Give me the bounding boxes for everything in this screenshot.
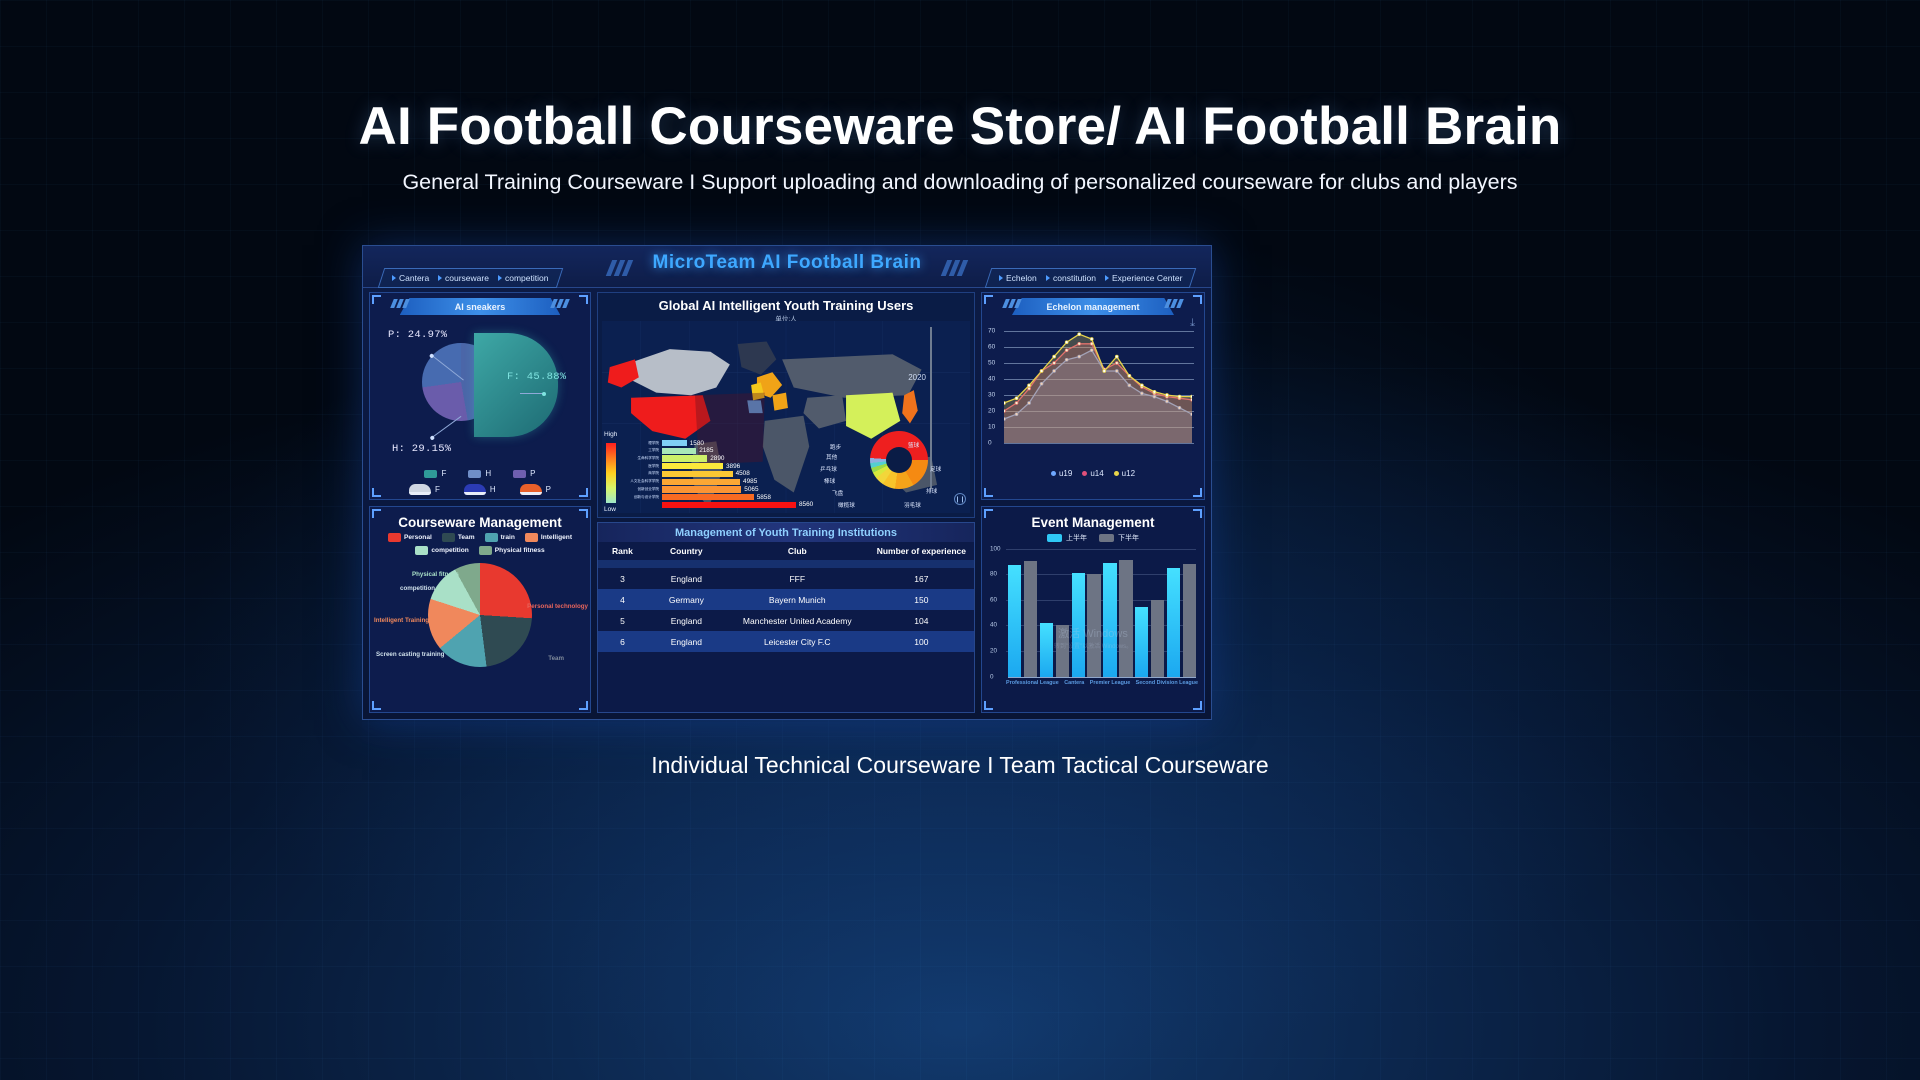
- table-row[interactable]: 3EnglandFFF167: [598, 568, 974, 589]
- cell-rank: 3: [598, 568, 647, 589]
- map-bar-value: 1580: [690, 440, 704, 447]
- callout-screen-casting: Screen casting training: [376, 651, 444, 658]
- map-bar-label: 工学院: [648, 448, 659, 453]
- cell-rank: 6: [598, 631, 647, 652]
- echelon-line-chart: 706050403020100: [988, 325, 1198, 465]
- map-bar-value: 2890: [710, 455, 724, 462]
- legend-item[interactable]: F: [424, 469, 446, 478]
- map-bar-value: 3896: [726, 463, 740, 470]
- event-bar[interactable]: [1103, 563, 1116, 677]
- pie-label-p: P: 24.97%: [388, 329, 447, 341]
- map-donut-chart: 跑步 篮球 足球 排球 羽毛球 橄榄球 飞盘 棒球 乒乓球 其他 ❙❙: [818, 425, 968, 511]
- map-bar-row: 人文社会科学学院4985: [662, 479, 740, 485]
- col-experience: Number of experience: [869, 542, 974, 560]
- map-bar-row: 工学院2185: [662, 448, 696, 454]
- cell-club: Leicester City F.C: [726, 631, 869, 652]
- scale-low-label: Low: [604, 506, 616, 513]
- x-axis-label: Professional League: [1006, 680, 1059, 686]
- pie-label-h: H: 29.15%: [392, 443, 451, 455]
- donut-label-badminton: 羽毛球: [904, 501, 921, 509]
- page-footer-text: Individual Technical Courseware I Team T…: [0, 752, 1920, 779]
- triangle-icon: [1105, 275, 1109, 281]
- left-column: AI sneakers P: 24.97%: [369, 292, 591, 713]
- event-bar[interactable]: [1167, 568, 1180, 677]
- event-bar[interactable]: [1040, 623, 1053, 677]
- legend-item-u19[interactable]: u19: [1051, 469, 1072, 478]
- event-bar[interactable]: [1024, 561, 1037, 676]
- event-legend: 上半年 下半年: [982, 533, 1204, 543]
- page-title: AI Football Courseware Store/ AI Footbal…: [0, 96, 1920, 157]
- nav-item-cantera[interactable]: Cantera: [392, 273, 429, 283]
- map-bar-row: 创新创业学院5065: [662, 486, 741, 492]
- y-tick: 100: [990, 545, 1001, 552]
- cell-country: England: [647, 568, 726, 589]
- callout-competition: competition: [400, 585, 435, 592]
- legend-item[interactable]: Physical fitness: [479, 546, 545, 555]
- event-bar-chart: 020406080100 激活 Windows 转到"设置"以激活 Window…: [990, 549, 1196, 677]
- y-tick: 70: [988, 328, 995, 335]
- map-bar-value: 2185: [699, 447, 713, 454]
- cell-country: England: [647, 610, 726, 631]
- map-bar-row: 创新与设计学院5858: [662, 494, 754, 500]
- map-bar-value: 5065: [744, 486, 758, 493]
- map-bar-label: 生命科学学院: [637, 456, 659, 461]
- courseware-management-title: Courseware Management: [370, 507, 590, 530]
- col-rank: Rank: [598, 542, 647, 560]
- legend-item-u14[interactable]: u14: [1082, 469, 1103, 478]
- dashboard-window: MicroTeam AI Football Brain Cantera cour…: [362, 245, 1212, 720]
- y-tick: 10: [988, 424, 995, 431]
- map-bar-row: 理学院1580: [662, 440, 687, 446]
- event-management-title: Event Management: [982, 507, 1204, 530]
- legend-item[interactable]: Team: [442, 533, 475, 542]
- triangle-icon: [498, 275, 502, 281]
- event-bar[interactable]: [1135, 607, 1148, 676]
- map-title: Global AI Intelligent Youth Training Use…: [598, 293, 974, 313]
- sneaker-icon: [464, 484, 486, 495]
- cell-experience: 167: [869, 568, 974, 589]
- event-bar[interactable]: [1008, 565, 1021, 676]
- header-slash-right: [944, 260, 965, 276]
- y-tick: 40: [988, 376, 995, 383]
- nav-item-courseware[interactable]: courseware: [438, 273, 489, 283]
- scale-high-label: High: [604, 431, 617, 438]
- donut-label-football: 足球: [930, 465, 941, 473]
- y-tick: 50: [988, 360, 995, 367]
- col-club: Club: [726, 542, 869, 560]
- gradient-scale: [606, 443, 616, 503]
- legend-item[interactable]: Intelligent: [525, 533, 572, 542]
- ai-sneakers-title-ribbon: AI sneakers: [400, 298, 561, 315]
- event-bar[interactable]: [1151, 600, 1164, 677]
- triangle-icon: [392, 275, 396, 281]
- donut-label-running: 跑步: [830, 443, 841, 451]
- cell-club: FFF: [726, 568, 869, 589]
- nav-left: Cantera courseware competition: [378, 268, 563, 288]
- table-header-row: Rank Country Club Number of experience: [598, 542, 974, 560]
- legend-item-second-half[interactable]: 下半年: [1099, 533, 1139, 543]
- donut-label-frisbee: 飞盘: [832, 489, 843, 497]
- triangle-icon: [1046, 275, 1050, 281]
- cell-club: Manchester United Academy: [726, 610, 869, 631]
- y-tick: 40: [990, 622, 997, 629]
- sneaker-icon: [409, 484, 431, 495]
- nav-right: Echelon constitution Experience Center: [985, 268, 1197, 288]
- nav-item-competition[interactable]: competition: [498, 273, 548, 283]
- table-row[interactable]: 4GermanyBayern Munich150: [598, 589, 974, 610]
- triangle-icon: [438, 275, 442, 281]
- legend-item[interactable]: train: [485, 533, 515, 542]
- pause-icon[interactable]: ❙❙: [954, 493, 966, 505]
- dashboard-body: AI sneakers P: 24.97%: [363, 288, 1211, 719]
- cell-country: Germany: [647, 589, 726, 610]
- ai-sneakers-legend: F H P: [370, 469, 590, 478]
- nav-item-experience-center[interactable]: Experience Center: [1105, 273, 1182, 283]
- right-column: Echelon management ⤓ 706050403020100 u19…: [981, 292, 1205, 713]
- event-bar[interactable]: [1183, 564, 1196, 677]
- pie-label-f: F: 45.88%: [507, 371, 566, 383]
- ai-sneakers-title: AI sneakers: [455, 302, 506, 312]
- y-tick: 20: [990, 647, 997, 654]
- nav-item-constitution[interactable]: constitution: [1046, 273, 1096, 283]
- panel-ai-sneakers: AI sneakers P: 24.97%: [369, 292, 591, 500]
- shoe-legend-item: F: [409, 484, 440, 495]
- table-row[interactable]: 5EnglandManchester United Academy104: [598, 610, 974, 631]
- table-row[interactable]: 6EnglandLeicester City F.C100: [598, 631, 974, 652]
- cell-rank: 5: [598, 610, 647, 631]
- map-bar-label: 人文社会科学学院: [630, 479, 659, 484]
- cell-experience: 104: [869, 610, 974, 631]
- donut-label-other: 其他: [826, 453, 837, 461]
- callout-intelligent-training: Intelligent Training: [374, 617, 429, 624]
- panel-echelon-management: Echelon management ⤓ 706050403020100 u19…: [981, 292, 1205, 500]
- event-x-axis-labels: Professional LeagueCanteraPremier League…: [1006, 680, 1198, 686]
- page-subtitle: General Training Courseware I Support up…: [0, 170, 1920, 195]
- y-tick: 20: [988, 408, 995, 415]
- cell-rank: 4: [598, 589, 647, 610]
- nav-label: competition: [505, 273, 548, 283]
- map-bar-row: 医学院3896: [662, 463, 723, 469]
- callout-physical-fitness: Physical fitness: [412, 571, 459, 578]
- map-bar-row: 生命科学学院2890: [662, 455, 707, 461]
- triangle-icon: [999, 275, 1003, 281]
- cell-experience: 150: [869, 589, 974, 610]
- map-bar-value: 4508: [736, 470, 750, 477]
- map-bar-label: 医学院: [648, 464, 659, 469]
- event-bar[interactable]: [1119, 560, 1132, 676]
- sneaker-icon: [520, 484, 542, 495]
- dashboard-header: MicroTeam AI Football Brain Cantera cour…: [363, 246, 1211, 288]
- y-tick: 60: [990, 596, 997, 603]
- event-bar[interactable]: [1072, 573, 1085, 677]
- map-bar-label: 理学院: [648, 441, 659, 446]
- echelon-title-ribbon: Echelon management: [1012, 298, 1174, 315]
- map-bar-row: 8560: [662, 502, 796, 508]
- donut-label-basketball: 篮球: [908, 441, 919, 449]
- institutions-title: Management of Youth Training Institution…: [598, 523, 974, 542]
- cell-experience: 100: [869, 631, 974, 652]
- courseware-legend: Personal Team train Intelligent competit…: [370, 530, 590, 555]
- donut-slices: [870, 431, 928, 489]
- shoe-legend-item: P: [520, 484, 551, 495]
- nav-label: Cantera: [399, 273, 429, 283]
- col-country: Country: [647, 542, 726, 560]
- y-tick: 60: [988, 344, 995, 351]
- callout-team: Team: [548, 655, 564, 662]
- legend-item[interactable]: competition: [415, 546, 468, 555]
- echelon-title: Echelon management: [1046, 302, 1139, 312]
- donut-label-baseball: 棒球: [824, 477, 835, 485]
- nav-label: constitution: [1053, 273, 1096, 283]
- x-axis-label: Premier League: [1090, 680, 1130, 686]
- event-bar[interactable]: [1087, 574, 1100, 676]
- legend-item[interactable]: Personal: [388, 533, 432, 542]
- y-tick: 0: [990, 673, 994, 680]
- header-slash-left: [609, 260, 630, 276]
- ai-sneakers-pie-chart: P: 24.97% F: 45.88% H: 29.15%: [370, 315, 590, 465]
- donut-label-rugby: 橄榄球: [838, 501, 855, 509]
- institutions-table: Rank Country Club Number of experience 3…: [598, 542, 974, 652]
- dashboard-reflection: MicroTeam AI Football Brain Cantera cour…: [362, 722, 1212, 880]
- map-bar-label: 创新与设计学院: [634, 495, 659, 500]
- map-bar-value: 5858: [757, 494, 771, 501]
- y-tick: 0: [988, 440, 992, 447]
- nav-label: courseware: [445, 273, 489, 283]
- map-bar-label: 商学院: [648, 471, 659, 476]
- pie-slice-f: [474, 333, 558, 437]
- panel-courseware-management: Courseware Management Personal Team trai…: [369, 506, 591, 714]
- panel-global-map: Global AI Intelligent Youth Training Use…: [597, 292, 975, 518]
- map-bar-label: 创新创业学院: [637, 487, 659, 492]
- nav-label: Experience Center: [1112, 273, 1182, 283]
- ai-sneakers-shoe-legend: F H P: [370, 484, 590, 495]
- legend-item-first-half[interactable]: 上半年: [1047, 533, 1087, 543]
- legend-item[interactable]: H: [468, 469, 491, 478]
- shoe-legend-item: H: [464, 484, 496, 495]
- x-axis-label: Cantera: [1064, 680, 1084, 686]
- map-bar-chart: High Low 理学院1580工学院2185生命科学学院2890医学院3896…: [604, 431, 812, 513]
- map-bar-value: 4985: [743, 478, 757, 485]
- cell-club: Bayern Munich: [726, 589, 869, 610]
- y-tick: 30: [988, 392, 995, 399]
- map-bar-row: 商学院4508: [662, 471, 733, 477]
- legend-item[interactable]: P: [513, 469, 535, 478]
- echelon-legend: u19 u14 u12: [982, 469, 1204, 478]
- panel-event-management: Event Management 上半年 下半年 020406080100 激活…: [981, 506, 1205, 714]
- center-column: Global AI Intelligent Youth Training Use…: [597, 292, 975, 713]
- courseware-pie-chart: Physical fitness competition Intelligent…: [370, 555, 590, 683]
- donut-label-volleyball: 排球: [926, 487, 937, 495]
- legend-item-u12[interactable]: u12: [1114, 469, 1135, 478]
- cell-country: England: [647, 631, 726, 652]
- timeline-year-2020[interactable]: 2020: [908, 373, 926, 382]
- x-axis-label: Second Division League: [1136, 680, 1198, 686]
- donut-label-tabletennis: 乒乓球: [820, 465, 837, 473]
- map-bar-value: 8560: [799, 501, 813, 508]
- y-tick: 80: [990, 571, 997, 578]
- panel-youth-institutions: Management of Youth Training Institution…: [597, 522, 975, 713]
- nav-item-echelon[interactable]: Echelon: [999, 273, 1037, 283]
- nav-label: Echelon: [1006, 273, 1037, 283]
- callout-personal-technology: Personal technology: [527, 603, 588, 610]
- event-bar[interactable]: [1056, 625, 1069, 676]
